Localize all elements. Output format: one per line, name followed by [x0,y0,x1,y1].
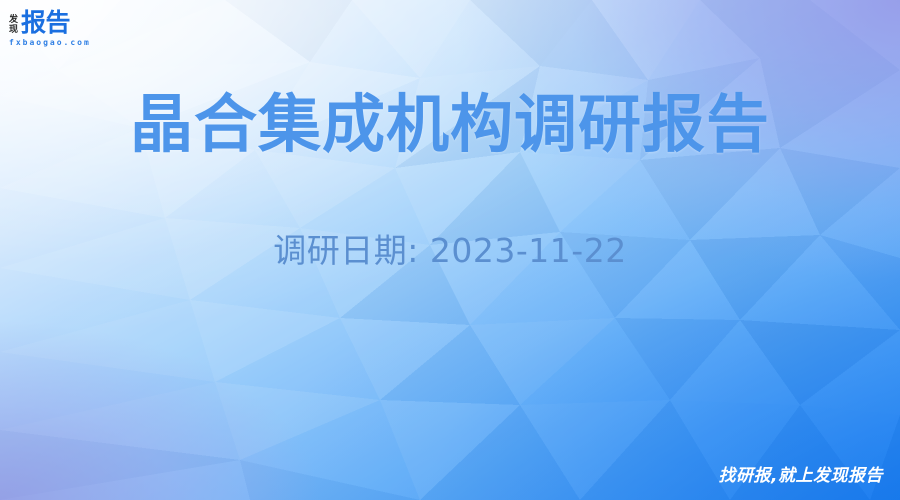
low-poly-background [0,0,900,500]
logo-mark-char-top: 发 [9,15,18,25]
report-cover: 发 现 报告 fxbaogao.com 晶合集成机构调研报告 调研日期: 202… [0,0,900,500]
brand-logo[interactable]: 发 现 报告 fxbaogao.com [9,8,113,50]
logo-mark-char-bottom: 现 [9,25,18,35]
brand-slogan: 找研报,就上发现报告 [719,465,883,487]
logo-wordmark-row: 发 现 报告 [9,8,113,36]
logo-domain-text: fxbaogao.com [9,38,113,48]
logo-mark-stack: 发 现 [9,15,18,36]
logo-wordmark: 报告 [21,10,70,36]
